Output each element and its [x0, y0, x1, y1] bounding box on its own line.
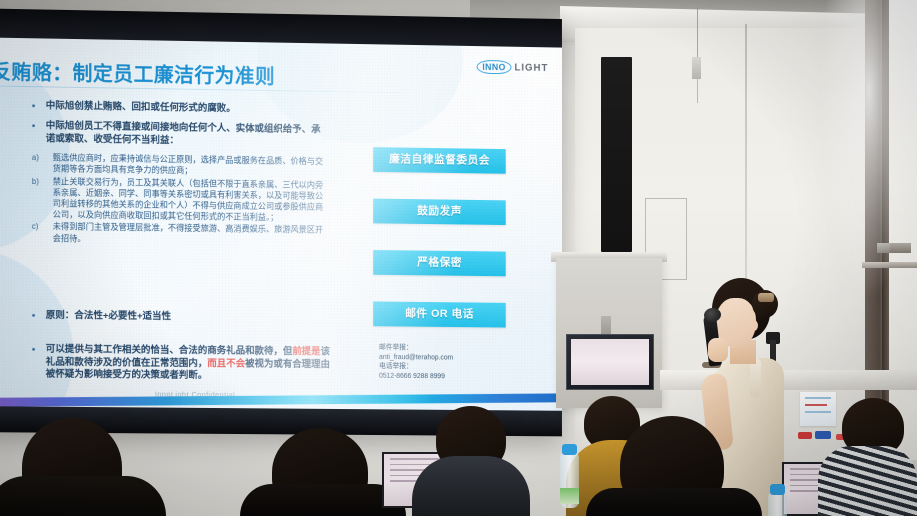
slide-accent-strip	[0, 393, 562, 407]
audience-body	[586, 488, 762, 516]
gift-note-highlight-2: 而且不会	[207, 358, 245, 369]
sub-item-marker: c)	[32, 221, 46, 244]
bullet-dot-icon: •	[32, 344, 38, 382]
presenter-hand	[708, 338, 728, 362]
logo-text: LIGHT	[514, 62, 548, 73]
window-glass	[889, 0, 917, 460]
water-bottle	[768, 492, 787, 516]
wall-speaker-panel	[601, 57, 632, 252]
principle-text: 原则：合法性+必要性+适当性	[46, 310, 171, 324]
cta-strict-confidentiality[interactable]: 严格保密	[373, 250, 506, 276]
contact-phone: 0512-8666 9288 8999	[379, 372, 525, 383]
podium-monitor-screen	[571, 339, 649, 385]
projection-screen[interactable]: 败和反贿赂：制定员工廉洁行为准则 INNO LIGHT 贿赂 和招待 • 中际旭…	[0, 8, 562, 436]
gift-note-text: 可以提供与其工作相关的恰当、合法的商务礼品和款待，但前提是该礼品和款待涉及的价值…	[46, 344, 338, 384]
audience-body	[412, 456, 530, 516]
sub-item-text: 禁止关联交易行为，员工及其关联人（包括但不限于直系亲属、三代以内旁系亲属、近姻亲…	[53, 176, 328, 224]
sub-item-marker: a)	[32, 152, 46, 175]
bottle-label	[560, 488, 579, 504]
logo-mark: INNO	[476, 60, 511, 74]
presenter-dress-strap	[750, 358, 761, 398]
slide-title: 败和反贿赂：制定员工廉洁行为准则	[0, 55, 375, 91]
bottle-cap	[562, 444, 577, 455]
contact-info: 邮件举报： anti_fraud@terahop.com 电话举报： 0512-…	[379, 343, 525, 382]
hanging-cable-lower	[697, 79, 698, 103]
cta-email-or-phone[interactable]: 邮件 OR 电话	[373, 301, 506, 327]
hanging-cable	[697, 8, 698, 58]
podium-monitor	[566, 334, 654, 390]
bullet-dot-icon: •	[32, 310, 38, 323]
bullet-text: 中际旭创员工不得直接或间接地向任何个人、实体或组织给予、承诺或索取、收受任何不当…	[46, 120, 328, 149]
principle-bullet: • 原则：合法性+必要性+适当性	[32, 310, 338, 333]
monitor-stand	[601, 316, 611, 336]
bullet-item: • 中际旭创员工不得直接或间接地向任何个人、实体或组织给予、承诺或索取、收受任何…	[32, 120, 328, 150]
table-tent-card	[800, 392, 836, 426]
sub-item-text: 未得到部门主管及管理层批准，不得接受旅游、高消费娱乐、旅游风景区开会招待。	[53, 222, 328, 248]
sub-item-text: 甄选供应商时，应秉持诚信与公正原则，选择产品或服务在品质、价格与交货期等各方面均…	[53, 153, 328, 179]
hanging-device	[692, 57, 701, 79]
innolight-logo: INNO LIGHT	[476, 60, 548, 75]
bullet-dot-icon: •	[32, 100, 38, 113]
presenter-ear	[750, 320, 758, 331]
presenter-hair-clip	[758, 293, 774, 302]
cta-supervision-committee[interactable]: 廉洁自律监督委员会	[373, 147, 506, 174]
slide-body: • 中际旭创禁止贿赂、回扣或任何形式的腐败。 • 中际旭创员工不得直接或间接地向…	[32, 100, 328, 248]
gift-note-part1: 可以提供与其工作相关的恰当、合法的商务礼品和款待，但	[46, 344, 293, 357]
desk-item	[798, 432, 812, 439]
cta-button-group: 廉洁自律监督委员会 鼓励发声 严格保密 邮件 OR 电话	[373, 147, 517, 354]
sub-item: b) 禁止关联交易行为，员工及其关联人（包括但不限于直系亲属、三代以内旁系亲属、…	[32, 176, 328, 225]
conference-room-scene: 败和反贿赂：制定员工廉洁行为准则 INNO LIGHT 贿赂 和招待 • 中际旭…	[0, 0, 917, 516]
audience-body-striped	[818, 446, 917, 516]
bullet-dot-icon: •	[32, 120, 38, 145]
presentation-slide: 败和反贿赂：制定员工廉洁行为准则 INNO LIGHT 贿赂 和招待 • 中际旭…	[0, 37, 562, 412]
gift-note-highlight-1: 前提是	[292, 346, 320, 357]
sub-item-marker: b)	[32, 176, 46, 221]
window-glare	[820, 0, 890, 300]
audience-body	[0, 476, 166, 516]
bullet-text: 中际旭创禁止贿赂、回扣或任何形式的腐败。	[46, 100, 236, 116]
desk-item	[815, 431, 831, 439]
sub-item: a) 甄选供应商时，应秉持诚信与公正原则，选择产品或服务在品质、价格与交货期等各…	[32, 152, 328, 179]
gift-note-bullet: • 可以提供与其工作相关的恰当、合法的商务礼品和款待，但前提是该礼品和款待涉及的…	[32, 344, 338, 391]
sub-item: c) 未得到部门主管及管理层批准，不得接受旅游、高消费娱乐、旅游风景区开会招待。	[32, 221, 328, 247]
bottle-cap	[770, 484, 785, 495]
cta-encourage-speakup[interactable]: 鼓励发声	[373, 199, 506, 225]
